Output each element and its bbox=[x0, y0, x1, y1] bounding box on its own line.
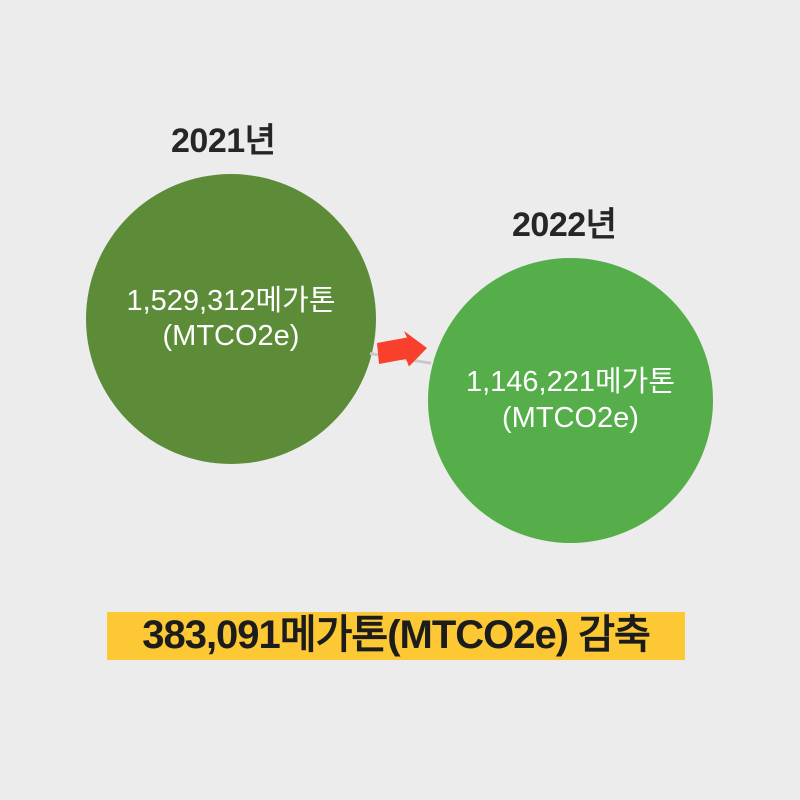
bubble-2021-value: 1,529,312메가톤 bbox=[126, 284, 335, 319]
bubble-2022: 1,146,221메가톤 (MTCO2e) bbox=[428, 258, 713, 543]
bubble-2021: 1,529,312메가톤 (MTCO2e) bbox=[86, 174, 376, 464]
summary-banner-text: 383,091메가톤(MTCO2e) 감축 bbox=[142, 615, 650, 655]
bubble-2022-value: 1,146,221메가톤 bbox=[466, 365, 675, 400]
summary-banner: 383,091메가톤(MTCO2e) 감축 bbox=[107, 612, 685, 660]
emissions-comparison-infographic: 2021년 1,529,312메가톤 (MTCO2e) 2022년 1,146,… bbox=[0, 0, 800, 800]
year-label-2022: 2022년 bbox=[512, 208, 616, 242]
bubble-2022-unit: (MTCO2e) bbox=[502, 401, 639, 436]
bubble-2021-unit: (MTCO2e) bbox=[163, 319, 300, 354]
arrow-right-icon bbox=[375, 331, 429, 373]
year-label-2021: 2021년 bbox=[171, 124, 275, 158]
